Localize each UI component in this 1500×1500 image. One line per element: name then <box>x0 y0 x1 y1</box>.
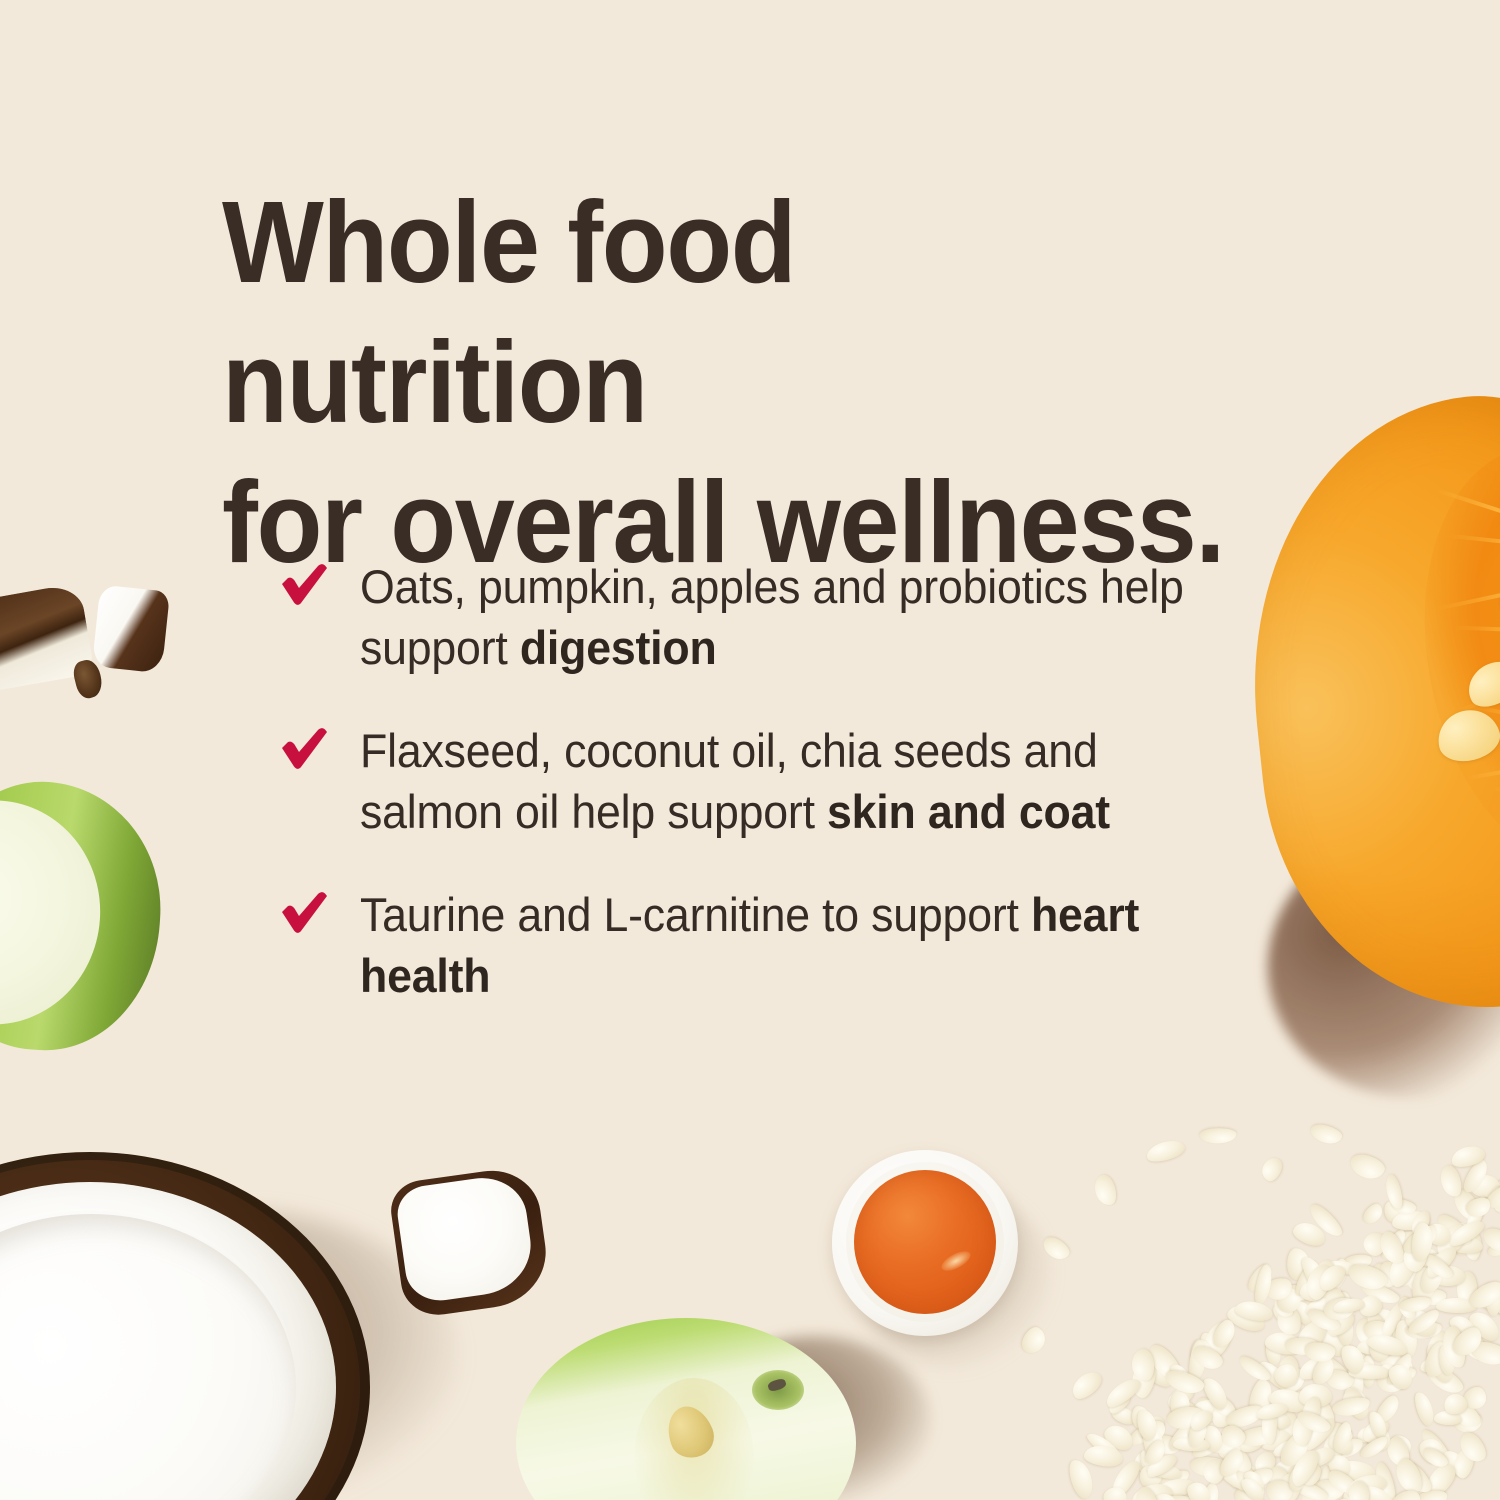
oat-flake <box>1348 1151 1388 1182</box>
oat-flake <box>1144 1137 1186 1165</box>
list-item: Flaxseed, coconut oil, chia seeds and sa… <box>278 720 1278 842</box>
oat-flake <box>1412 1390 1438 1428</box>
coconut-chunk-image <box>92 585 170 674</box>
list-item: Taurine and L-carnitine to support heart… <box>278 884 1278 1006</box>
oat-flake <box>1259 1154 1286 1184</box>
benefit-text-regular: Oats, pumpkin, apples and probiotics hel… <box>360 560 1184 674</box>
benefits-list: Oats, pumpkin, apples and probiotics hel… <box>278 556 1278 1006</box>
page-title: Whole food nutrition for overall wellnes… <box>222 172 1236 592</box>
check-icon <box>278 562 330 610</box>
list-item: Oats, pumpkin, apples and probiotics hel… <box>278 556 1278 678</box>
list-item-text: Taurine and L-carnitine to support heart… <box>360 884 1232 1006</box>
apple-slice-image <box>0 774 169 1058</box>
benefit-text-bold: digestion <box>520 621 717 674</box>
oat-flake <box>1068 1367 1106 1404</box>
oat-flake <box>1308 1122 1343 1147</box>
marketing-graphic: Whole food nutrition for overall wellnes… <box>0 0 1500 1500</box>
oat-flake <box>1200 1127 1237 1143</box>
rolled-oats-image <box>1050 1120 1500 1500</box>
coconut-wedge-image <box>387 1164 552 1319</box>
oat-flake <box>1091 1172 1120 1208</box>
pumpkin-pulp <box>1406 434 1500 879</box>
salmon-oil-bowl-image <box>832 1150 1018 1336</box>
check-icon <box>278 890 330 938</box>
list-item-text: Flaxseed, coconut oil, chia seeds and sa… <box>360 720 1232 842</box>
benefit-text-regular: Taurine and L-carnitine to support <box>360 888 1031 941</box>
coconut-half-image <box>0 1152 370 1500</box>
list-item-text: Oats, pumpkin, apples and probiotics hel… <box>360 556 1232 678</box>
oat-flake <box>1361 1201 1387 1227</box>
check-icon <box>278 726 330 774</box>
benefit-text-bold: skin and coat <box>827 785 1110 838</box>
